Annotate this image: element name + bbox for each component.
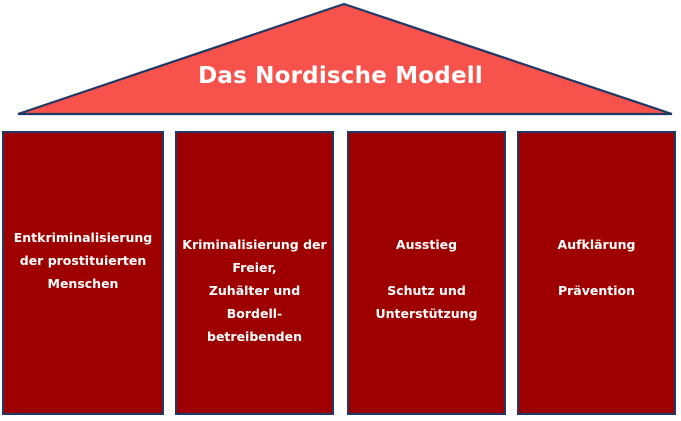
pillar-ausstieg: Ausstieg Schutz und Unterstützung — [347, 131, 506, 415]
pillar-entkriminalisierung: Entkriminalisierung der prostituierten M… — [2, 131, 164, 415]
nordic-model-diagram: Das Nordische Modell Entkriminalisierung… — [0, 0, 681, 421]
pillar-3-label: Ausstieg Schutz und Unterstützung — [353, 233, 500, 325]
pillar-aufklaerung: Aufklärung Prävention — [517, 131, 676, 415]
pillar-1-label: Entkriminalisierung der prostituierten M… — [8, 226, 158, 295]
roof-triangle-icon — [0, 0, 681, 120]
pillar-4-label: Aufklärung Prävention — [523, 233, 670, 302]
pillar-group: Entkriminalisierung der prostituierten M… — [0, 131, 681, 417]
roof-shape: Das Nordische Modell — [0, 0, 681, 120]
pillar-2-label: Kriminalisierung der Freier, Zuhälter un… — [181, 233, 328, 348]
pillar-kriminalisierung: Kriminalisierung der Freier, Zuhälter un… — [175, 131, 334, 415]
diagram-title: Das Nordische Modell — [0, 62, 681, 90]
